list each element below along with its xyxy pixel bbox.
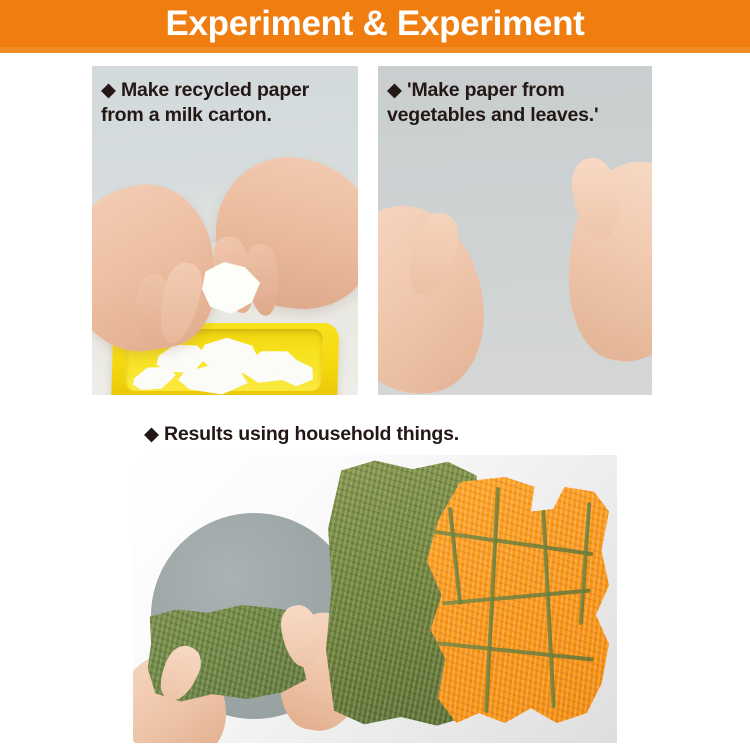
paper-crack [579,502,592,625]
page-title: Experiment & Experiment [0,0,750,48]
caption-vegetable-paper: ◆ 'Make paper from vegetables and leaves… [387,78,598,128]
orange-carrot-paper-sheet [423,477,609,723]
paper-crack [435,530,594,556]
page-root: Experiment & Experiment [0,0,750,750]
caption-results: ◆ Results using household things. [144,422,459,447]
photo-results [133,455,617,743]
paper-crack [442,589,591,606]
caption-recycled-paper: ◆ Make recycled paper from a milk carton… [101,78,309,128]
paper-crack [431,641,594,662]
paper-crack [448,507,462,605]
header-bar: Experiment & Experiment [0,0,750,53]
paper-crack [540,492,555,708]
